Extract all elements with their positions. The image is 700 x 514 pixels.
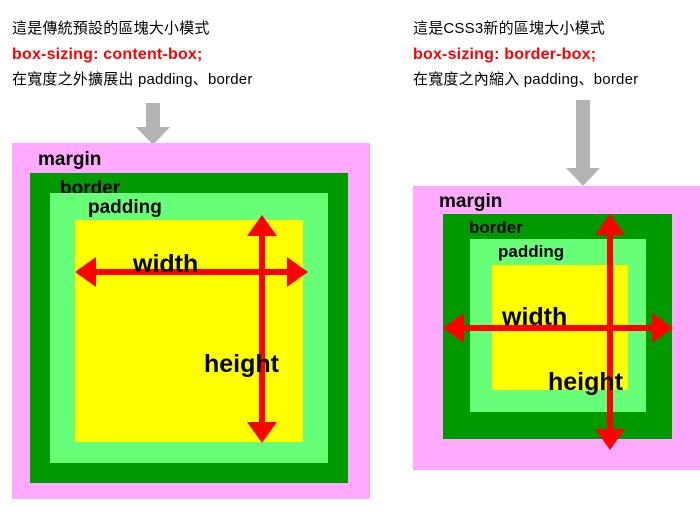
width-label-right: width xyxy=(502,305,567,330)
caption-left-code: box-sizing: content-box; xyxy=(12,43,253,67)
label-margin-right: margin xyxy=(439,192,502,211)
arrow-shaft xyxy=(576,100,590,170)
height-measure-arrow-right xyxy=(607,234,613,430)
caption-right-line3: 在寬度之內縮入 padding、border xyxy=(413,69,638,92)
diagram-left-padding-box: padding xyxy=(50,193,328,463)
caption-left-line1: 這是傳統預設的區塊大小模式 xyxy=(12,18,253,41)
down-arrow-icon-left xyxy=(136,103,170,145)
label-padding-right: padding xyxy=(498,243,564,260)
label-border-right: border xyxy=(469,219,523,236)
height-label-left: height xyxy=(204,352,279,377)
caption-left-line3: 在寬度之外擴展出 padding、border xyxy=(12,69,253,92)
caption-content-box: 這是傳統預設的區塊大小模式 box-sizing: content-box; 在… xyxy=(12,18,253,91)
arrow-head xyxy=(566,168,600,186)
diagram-left-margin-box: margin border padding xyxy=(12,143,370,499)
width-label-left: width xyxy=(133,252,198,277)
label-margin-left: margin xyxy=(38,150,101,169)
caption-right-code: box-sizing: border-box; xyxy=(413,43,638,67)
diagram-left-border-box: border padding xyxy=(30,173,348,483)
caption-right-line1: 這是CSS3新的區塊大小模式 xyxy=(413,18,638,41)
height-measure-arrow-left xyxy=(259,235,265,423)
caption-border-box: 這是CSS3新的區塊大小模式 box-sizing: border-box; 在… xyxy=(413,18,638,91)
arrow-shaft xyxy=(146,103,160,129)
label-padding-left: padding xyxy=(88,198,162,217)
down-arrow-icon-right xyxy=(566,100,600,186)
height-label-right: height xyxy=(548,370,623,395)
